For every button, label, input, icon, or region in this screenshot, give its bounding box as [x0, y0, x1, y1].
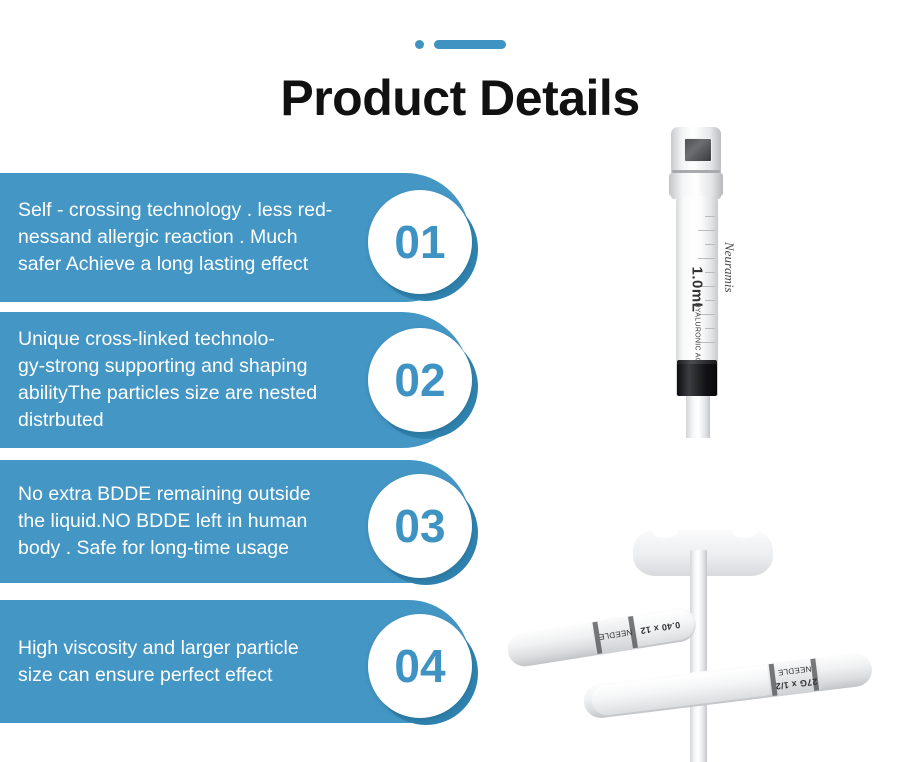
needle-cartridge-1: NEEDLE 0.40 x 12 — [505, 605, 698, 668]
decoration-bar-icon — [434, 40, 506, 49]
product-details-page: Product Details Self - crossing technolo… — [0, 0, 920, 762]
feature-text-line: Self - crossing technology . less red- — [18, 197, 348, 224]
syringe-rod-upper — [686, 396, 710, 438]
syringe-graduation — [698, 314, 715, 315]
feature-text-line: size can ensure perfect effect — [18, 662, 348, 689]
feature-item-04: High viscosity and larger particle size … — [0, 600, 500, 723]
feature-text-line: body . Safe for long-time usage — [18, 535, 348, 562]
badge-circle: 02 — [368, 328, 472, 432]
feature-badge-01: 01 — [368, 190, 480, 302]
feature-item-02: Unique cross-linked technolo- gy-strong … — [0, 312, 500, 448]
feature-badge-04: 04 — [368, 614, 480, 726]
syringe-collar — [669, 173, 723, 196]
syringe-graduation — [698, 230, 715, 231]
feature-text-03: No extra BDDE remaining outside the liqu… — [18, 460, 348, 583]
feature-text-line: distrbuted — [18, 407, 348, 434]
syringe-fine-print: HYALURONIC ACID — [694, 303, 701, 357]
feature-text-line: abilityThe particles size are nested — [18, 380, 348, 407]
feature-badge-02: 02 — [368, 328, 480, 440]
syringe-graduation — [705, 216, 715, 217]
badge-circle: 01 — [368, 190, 472, 294]
decoration-dot-icon — [415, 40, 424, 49]
feature-text-line: gy-strong supporting and shaping — [18, 353, 348, 380]
needle-clear-section — [590, 664, 780, 717]
header-decoration — [0, 36, 920, 52]
syringe-plunger-stopper — [677, 364, 717, 396]
feature-number: 03 — [394, 503, 445, 549]
syringe-graduation — [705, 272, 715, 273]
syringe-graduation — [705, 300, 715, 301]
feature-text-01: Self - crossing technology . less red- n… — [18, 173, 348, 302]
product-photo-syringe: Neuramis 1.0mL HYALURONIC ACID NEEDLE 0.… — [500, 110, 920, 750]
syringe-cap-window — [684, 138, 712, 162]
syringe-graduation — [705, 328, 715, 329]
feature-badge-03: 03 — [368, 474, 480, 586]
feature-text-line: High viscosity and larger particle — [18, 635, 348, 662]
feature-number: 04 — [394, 643, 445, 689]
needle-cartridge-2: NEEDLE 27G x 1/2 — [582, 651, 874, 720]
feature-text-line: nessand allergic reaction . Much — [18, 224, 348, 251]
feature-item-03: No extra BDDE remaining outside the liqu… — [0, 460, 500, 583]
feature-number: 02 — [394, 357, 445, 403]
feature-item-01: Self - crossing technology . less red- n… — [0, 173, 500, 302]
feature-number: 01 — [394, 219, 445, 265]
feature-text-line: the liquid.NO BDDE left in human — [18, 508, 348, 535]
syringe-plunger-rod — [690, 550, 707, 762]
feature-text-04: High viscosity and larger particle size … — [18, 600, 348, 723]
syringe-flange-notch — [732, 524, 758, 538]
feature-text-line: No extra BDDE remaining outside — [18, 481, 348, 508]
badge-circle: 03 — [368, 474, 472, 578]
feature-text-02: Unique cross-linked technolo- gy-strong … — [18, 312, 348, 448]
feature-text-line: Unique cross-linked technolo- — [18, 326, 348, 353]
syringe-flange-notch — [652, 524, 678, 538]
badge-circle: 04 — [368, 614, 472, 718]
feature-text-line: safer Achieve a long lasting effect — [18, 251, 348, 278]
syringe-graduation — [698, 342, 715, 343]
